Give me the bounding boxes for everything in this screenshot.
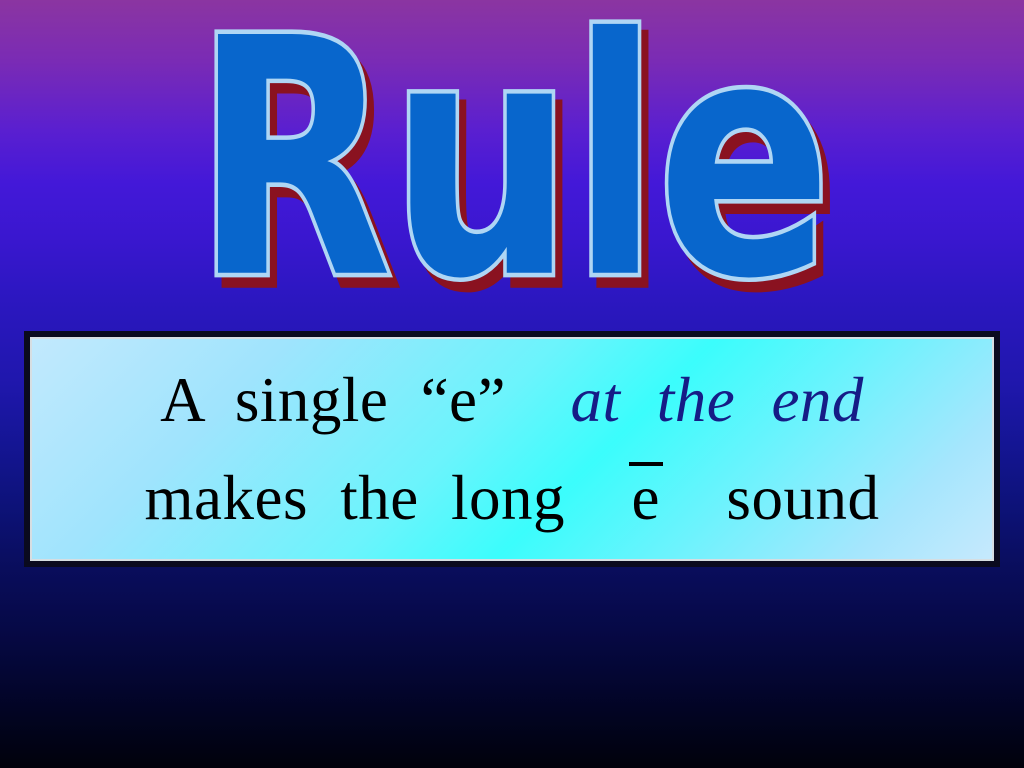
- wordart-fill-layer: Rule: [175, 0, 848, 356]
- rule-line1-emphasis: at the end: [570, 365, 863, 435]
- rule-line2-plain-start: makes the long: [145, 463, 565, 533]
- rule-line2-plain-end: sound: [726, 463, 879, 533]
- long-e-letter: e: [631, 463, 659, 533]
- rule-line-1: A single “e” at the end: [46, 351, 978, 449]
- slide-title-wordart: Rule Rule Rule: [0, 8, 1024, 314]
- rule-text-box-inner: A single “e” at the end makes the long e…: [30, 337, 994, 561]
- macron-bar: [629, 462, 662, 466]
- rule-text-content: A single “e” at the end makes the long e…: [32, 351, 992, 547]
- rule-line1-plain: A single “e”: [160, 365, 506, 435]
- wordart-outline-layer: Rule: [175, 0, 848, 356]
- long-e-glyph: e: [629, 449, 661, 547]
- rule-text-box: A single “e” at the end makes the long e…: [25, 332, 999, 566]
- slide-canvas: Rule Rule Rule A single “e” at the end m…: [0, 0, 1024, 768]
- wordart-shadow-layer: Rule: [183, 0, 856, 366]
- rule-line-2: makes the long e sound: [46, 449, 978, 547]
- wordart-stack: Rule Rule Rule: [182, 11, 842, 311]
